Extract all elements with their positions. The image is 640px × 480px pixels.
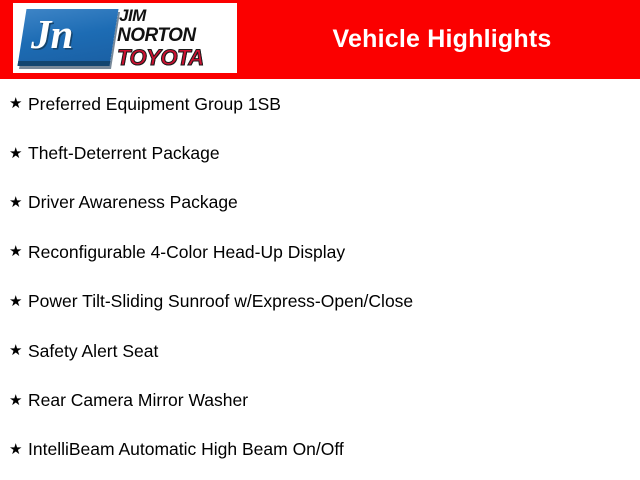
list-item-label: Safety Alert Seat xyxy=(28,341,158,361)
vehicle-highlights-page: Jn JIM NORTON TOYOTA Vehicle Highlights … xyxy=(0,0,640,480)
list-item-label: Theft-Deterrent Package xyxy=(28,143,220,163)
dealer-logo: Jn JIM NORTON TOYOTA xyxy=(13,3,237,73)
page-title: Vehicle Highlights xyxy=(260,0,640,79)
list-item: ★ Rear Camera Mirror Washer xyxy=(0,375,640,424)
list-item-label: IntelliBeam Automatic High Beam On/Off xyxy=(28,439,344,459)
header-banner: Jn JIM NORTON TOYOTA Vehicle Highlights xyxy=(0,0,640,79)
list-item-label: Driver Awareness Package xyxy=(28,192,238,212)
star-icon: ★ xyxy=(9,96,28,111)
logo-wordmark: JIM NORTON TOYOTA xyxy=(117,7,235,69)
star-icon: ★ xyxy=(9,244,28,259)
logo-word-jim: JIM xyxy=(117,7,235,25)
list-item-label: Reconfigurable 4-Color Head-Up Display xyxy=(28,242,345,262)
list-item-label: Preferred Equipment Group 1SB xyxy=(28,94,281,114)
star-icon: ★ xyxy=(9,294,28,309)
list-item-label: Rear Camera Mirror Washer xyxy=(28,390,248,410)
logo-badge-shape xyxy=(17,9,118,66)
logo-word-norton: NORTON xyxy=(117,25,235,46)
star-icon: ★ xyxy=(9,195,28,210)
list-item: ★ IntelliBeam Automatic High Beam On/Off xyxy=(0,425,640,474)
list-item: ★ Reconfigurable 4-Color Head-Up Display xyxy=(0,227,640,276)
list-item-label: Power Tilt-Sliding Sunroof w/Express-Ope… xyxy=(28,291,413,311)
list-item: ★ Preferred Equipment Group 1SB xyxy=(0,79,640,128)
highlights-list: ★ Preferred Equipment Group 1SB ★ Theft-… xyxy=(0,79,640,480)
list-item: ★ Safety Alert Seat xyxy=(0,326,640,375)
star-icon: ★ xyxy=(9,343,28,358)
list-item: ★ Power Tilt-Sliding Sunroof w/Express-O… xyxy=(0,277,640,326)
logo-inner: Jn JIM NORTON TOYOTA xyxy=(13,3,237,73)
list-item: ★ Driver Awareness Package xyxy=(0,178,640,227)
star-icon: ★ xyxy=(9,393,28,408)
star-icon: ★ xyxy=(9,146,28,161)
star-icon: ★ xyxy=(9,442,28,457)
list-item: ★ Theft-Deterrent Package xyxy=(0,128,640,177)
logo-word-toyota: TOYOTA xyxy=(117,46,235,70)
